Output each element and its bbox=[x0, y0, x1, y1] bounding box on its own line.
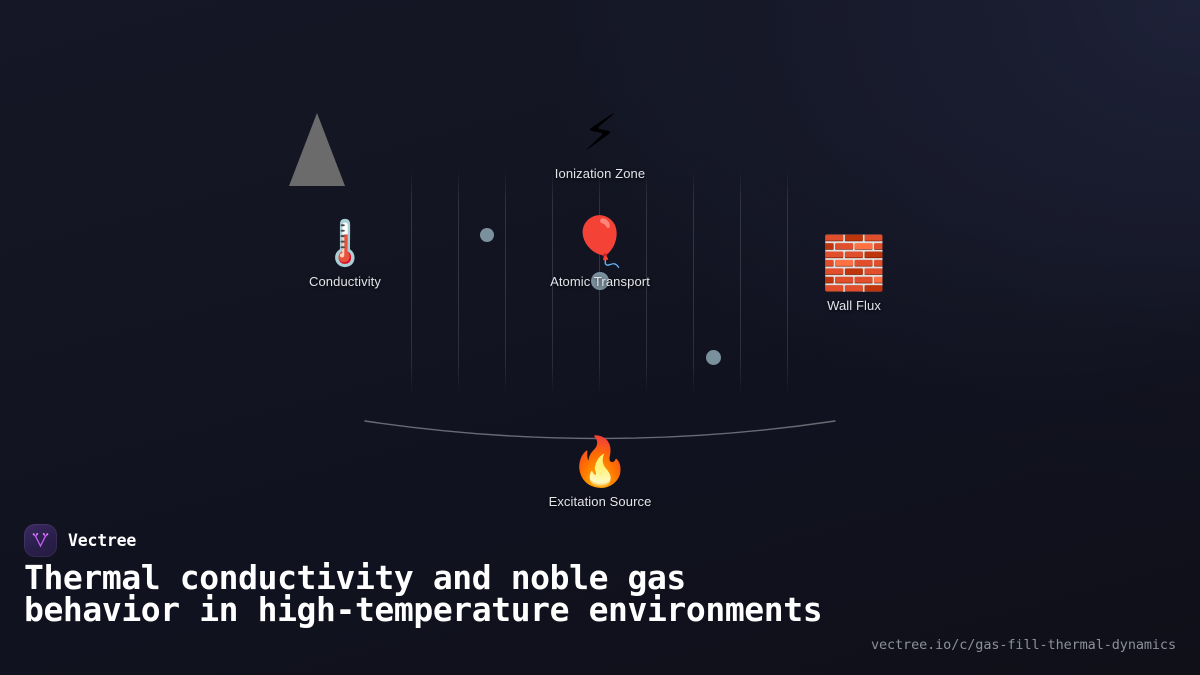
page-title: Thermal conductivity and noble gas behav… bbox=[24, 562, 824, 626]
illustration-scene: 🌡️ Conductivity ⚡ Ionization Zone 🎈 Atom… bbox=[0, 0, 1200, 520]
scene-node-label: Ionization Zone bbox=[500, 166, 700, 181]
brick-icon: 🧱 bbox=[754, 238, 954, 290]
thermometer-icon: 🌡️ bbox=[245, 222, 445, 266]
vectree-vector-tree-icon bbox=[31, 531, 50, 550]
poster-canvas: 🌡️ Conductivity ⚡ Ionization Zone 🎈 Atom… bbox=[0, 0, 1200, 675]
brand-block[interactable]: Vectree bbox=[24, 524, 136, 557]
scene-node-label: Atomic Transport bbox=[500, 274, 700, 289]
particle-1 bbox=[480, 228, 494, 242]
grid-line bbox=[740, 170, 741, 394]
scene-node-excitation-source: 🔥 Excitation Source bbox=[500, 438, 700, 509]
brand-name: Vectree bbox=[68, 531, 136, 550]
fire-icon: 🔥 bbox=[500, 438, 700, 486]
high-voltage-icon: ⚡ bbox=[500, 108, 700, 158]
source-url: vectree.io/c/gas-fill-thermal-dynamics bbox=[871, 637, 1176, 653]
vectree-logo bbox=[24, 524, 57, 557]
scene-node-wall-flux: 🧱 Wall Flux bbox=[754, 238, 954, 313]
scene-node-conductivity: 🌡️ Conductivity bbox=[245, 222, 445, 289]
scene-node-label: Wall Flux bbox=[754, 298, 954, 313]
scene-node-label: Conductivity bbox=[245, 274, 445, 289]
scene-node-atomic-transport: 🎈 Atomic Transport bbox=[500, 218, 700, 289]
balloon-icon: 🎈 bbox=[500, 218, 700, 266]
scene-node-ionization-zone: ⚡ Ionization Zone bbox=[500, 108, 700, 181]
footer: Vectree Thermal conductivity and noble g… bbox=[0, 510, 1200, 675]
particle-3 bbox=[706, 350, 721, 365]
gray-triangle-shape bbox=[289, 113, 345, 186]
grid-line bbox=[458, 170, 459, 394]
scene-node-label: Excitation Source bbox=[500, 494, 700, 509]
